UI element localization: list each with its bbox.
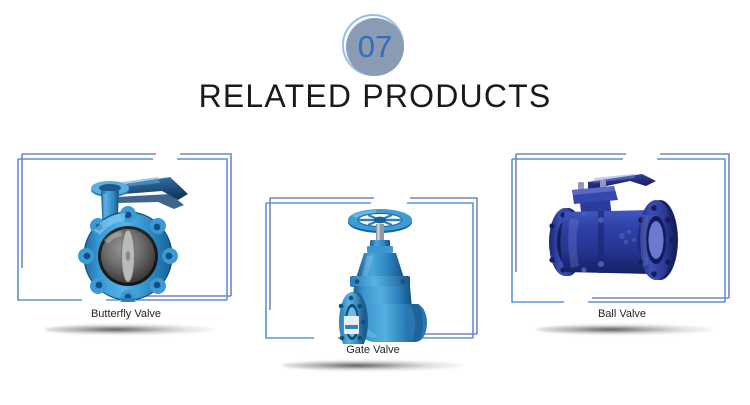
- label-shadow: [44, 324, 214, 335]
- section-number-badge: 07: [342, 14, 408, 80]
- ball-valve-image: [538, 170, 704, 292]
- product-label: Ball Valve: [508, 308, 736, 320]
- page-title: RELATED PRODUCTS: [0, 78, 750, 115]
- page-header: 07 RELATED PRODUCTS: [0, 0, 750, 130]
- product-label: Butterfly Valve: [14, 308, 238, 320]
- product-card-ball-valve[interactable]: Ball Valve: [508, 148, 736, 336]
- product-card-gate-valve[interactable]: Gate Valve: [262, 192, 484, 372]
- product-card-butterfly-valve[interactable]: Butterfly Valve: [14, 148, 238, 344]
- product-label: Gate Valve: [262, 344, 484, 356]
- label-shadow: [536, 324, 714, 335]
- label-shadow: [282, 360, 462, 371]
- gate-valve-image: [324, 204, 440, 344]
- butterfly-valve-image: [66, 164, 206, 302]
- badge-number-label: 07: [346, 18, 404, 76]
